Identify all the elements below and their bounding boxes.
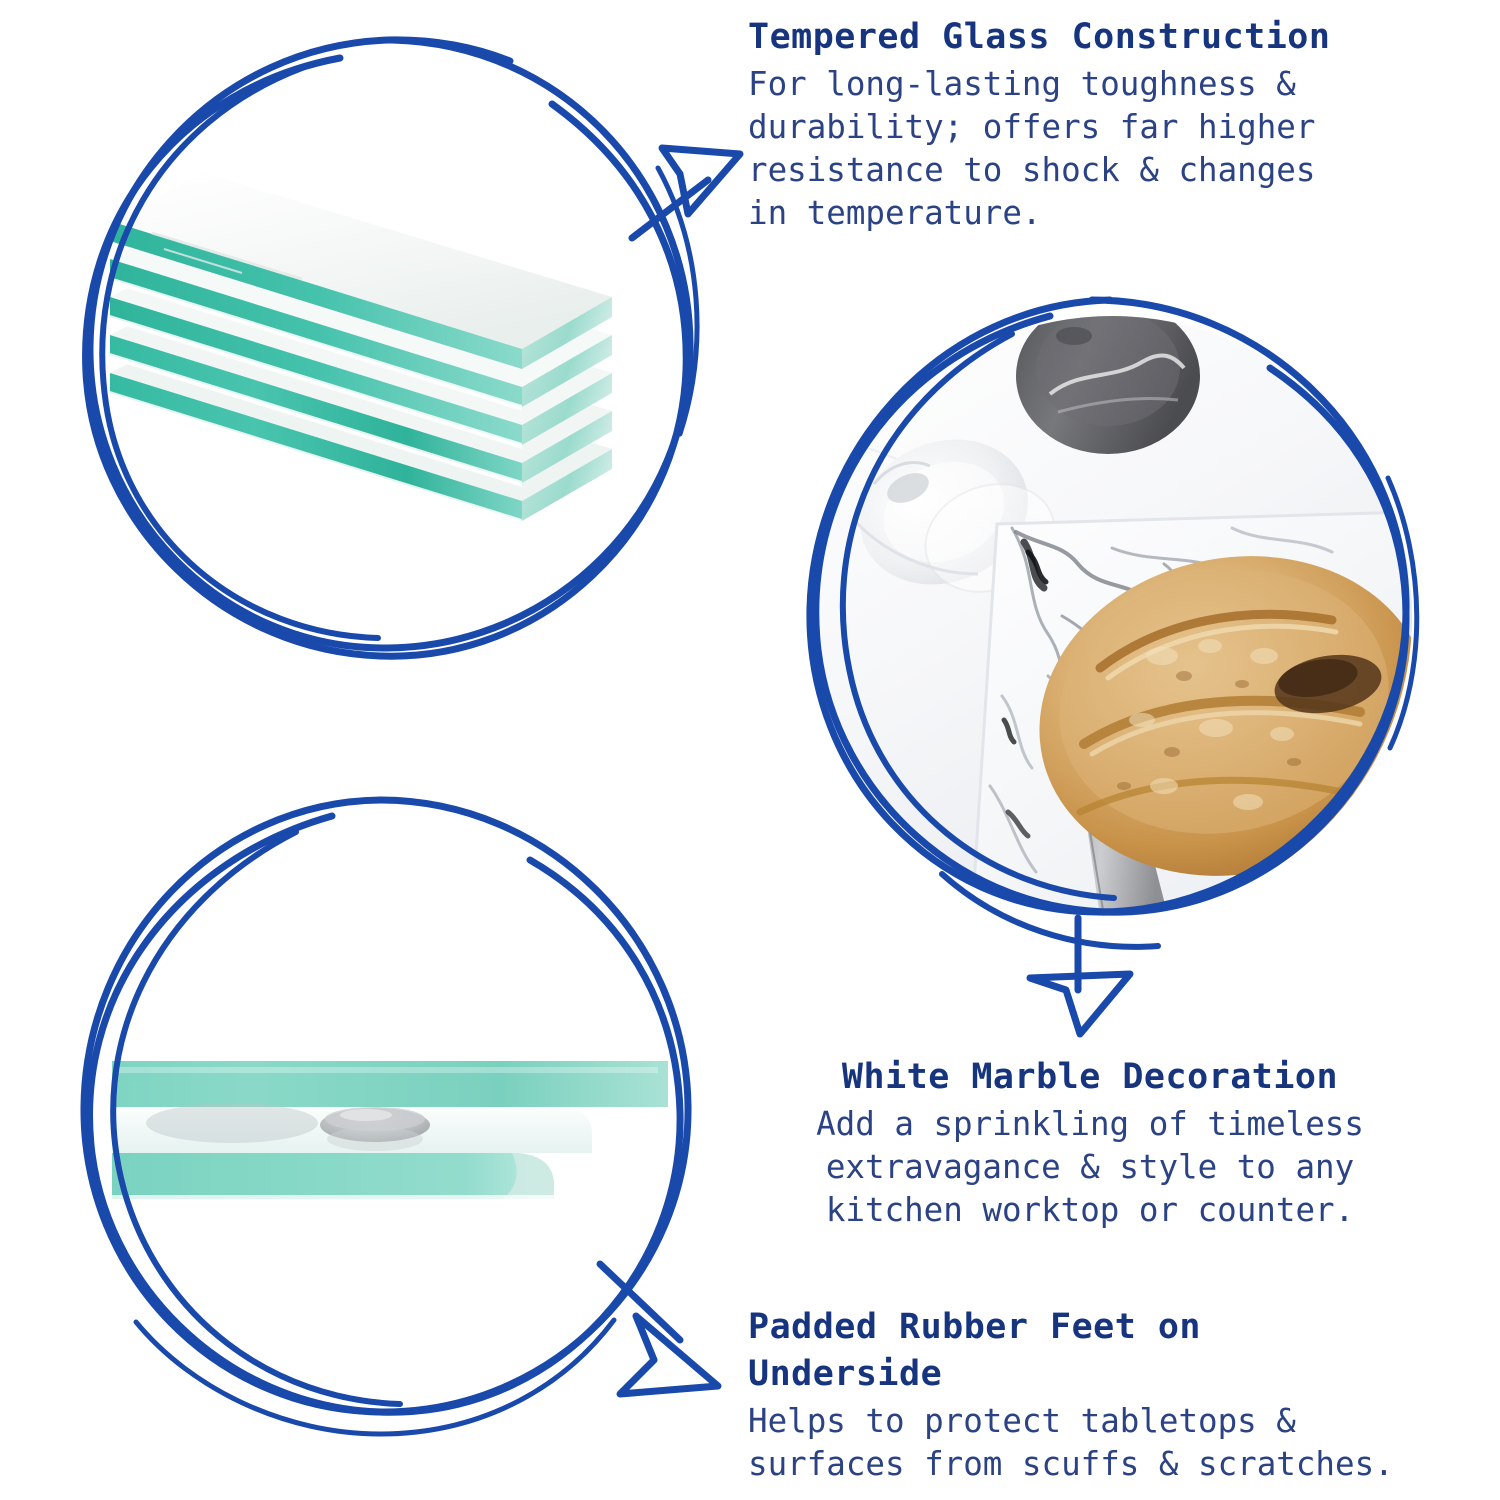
feature-body: Add a sprinkling of timeless extravaganc… [740, 1103, 1440, 1232]
feature-title: Padded Rubber Feet on Underside [748, 1304, 1488, 1398]
infographic-canvas: Tempered Glass Construction For long-las… [0, 0, 1500, 1500]
feature-text-white-marble-decoration: White Marble Decoration Add a sprinkling… [740, 1054, 1440, 1232]
feature-title: White Marble Decoration [740, 1054, 1440, 1101]
arrow-down-right-icon [600, 1264, 718, 1394]
feature-title: Tempered Glass Construction [748, 14, 1448, 61]
feature-photo-glass-stack [40, 18, 740, 708]
feature-text-tempered-glass-construction: Tempered Glass Construction For long-las… [748, 14, 1448, 235]
feature-body: Helps to protect tabletops & surfaces fr… [748, 1400, 1488, 1486]
feature-text-padded-rubber-feet: Padded Rubber Feet on Underside Helps to… [748, 1304, 1488, 1486]
feature-body: For long-lasting toughness & durability;… [748, 63, 1448, 235]
doodle-circle-frame-3 [40, 782, 740, 1472]
feature-photo-marble-board [762, 278, 1462, 978]
doodle-circle-frame-2 [762, 278, 1462, 1038]
feature-photo-rubber-foot [40, 782, 740, 1472]
doodle-circle-frame-1 [40, 18, 740, 708]
